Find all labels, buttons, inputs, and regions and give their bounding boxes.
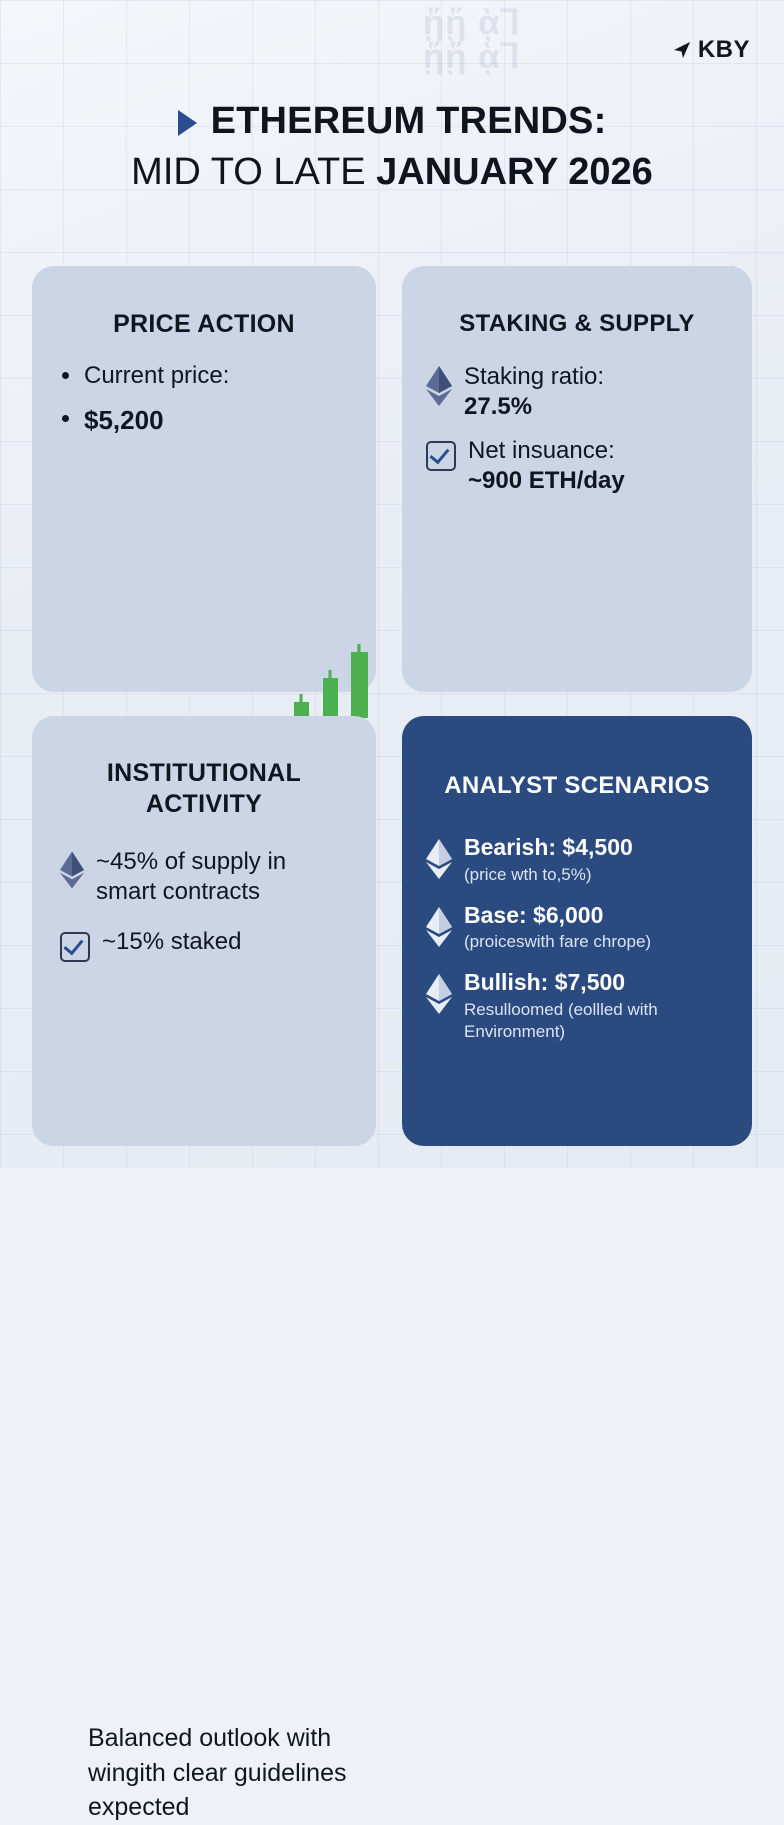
title-line-2-bold: JANUARY 2026 <box>376 151 653 193</box>
navigation-arrow-icon <box>671 39 693 61</box>
page-title: ETHEREUM TRENDS: MID TO LATE JANUARY 202… <box>0 100 784 194</box>
scenario-head: Bearish: $4,500 <box>464 834 633 862</box>
list-item: Current price: <box>84 361 376 392</box>
card-staking-supply: STAKING & SUPPLY Staking ratio:27.5% Net… <box>402 266 752 692</box>
price-bullets: Current price: $5,200 <box>32 361 376 437</box>
scenario-sub: (price wth to,5%) <box>464 864 633 886</box>
staking-ratio-label: Staking ratio: <box>464 363 604 390</box>
checkbox-icon <box>426 441 456 471</box>
inst-staked-row: ~15% staked <box>32 927 376 962</box>
title-line-2-light: MID TO LATE <box>131 151 376 193</box>
ethereum-icon <box>426 838 452 885</box>
inst-footer-text: Balanced outlook with wingith clear guid… <box>88 1721 388 1825</box>
scenario-head: Bullish: $7,500 <box>464 969 732 997</box>
card-staking-heading: STAKING & SUPPLY <box>402 266 752 338</box>
brand-name: KBY <box>698 36 750 64</box>
price-current-label: Current price: <box>84 362 229 389</box>
card-analyst-scenarios: ANALYST SCENARIOS Bearish: $4,500 (price… <box>402 716 752 1146</box>
scenario-row: Bullish: $7,500 Resulloomed (eollled wit… <box>402 969 752 1043</box>
price-current-value: $5,200 <box>84 405 164 435</box>
ethereum-icon <box>426 906 452 953</box>
ethereum-icon <box>60 851 84 894</box>
inst-supply-row: ~45% of supply in smart contracts <box>32 847 376 907</box>
scenario-row: Base: $6,000 (proiceswith fare chrope) <box>402 902 752 954</box>
card-price-heading: PRICE ACTION <box>32 266 376 339</box>
inst-staked-text: ~15% staked <box>102 927 241 957</box>
scenario-head: Base: $6,000 <box>464 902 651 930</box>
net-issuance-label: Net insuance: <box>468 437 615 464</box>
ghost-watermark: ᾕᾕ ᾲ⅂ᾕᾕ ᾲ⅂ <box>423 6 521 74</box>
checkbox-icon <box>60 932 90 962</box>
staking-ratio-row: Staking ratio:27.5% <box>402 362 752 422</box>
card-inst-heading: INSTITUTIONAL ACTIVITY <box>32 716 376 819</box>
net-issuance-row: Net insuance:~900 ETH/day <box>402 436 752 496</box>
scenario-sub: Resulloomed (eollled with Environment) <box>464 999 732 1043</box>
staking-ratio-value: 27.5% <box>464 393 532 420</box>
scenario-sub: (proiceswith fare chrope) <box>464 931 651 953</box>
title-line-1: ETHEREUM TRENDS: <box>211 100 607 143</box>
ethereum-icon <box>426 366 452 411</box>
card-analyst-heading: ANALYST SCENARIOS <box>402 716 752 800</box>
card-institutional-activity: INSTITUTIONAL ACTIVITY ~45% of supply in… <box>32 716 376 1146</box>
ethereum-icon <box>426 973 452 1020</box>
inst-supply-text: ~45% of supply in smart contracts <box>96 847 350 907</box>
triangle-marker-icon <box>178 110 197 136</box>
scenario-row: Bearish: $4,500 (price wth to,5%) <box>402 834 752 886</box>
list-item: $5,200 <box>84 404 376 438</box>
net-issuance-value: ~900 ETH/day <box>468 467 625 494</box>
brand-logo: KBY <box>671 36 750 64</box>
card-price-action: PRICE ACTION Current price: $5,200 <box>32 266 376 692</box>
